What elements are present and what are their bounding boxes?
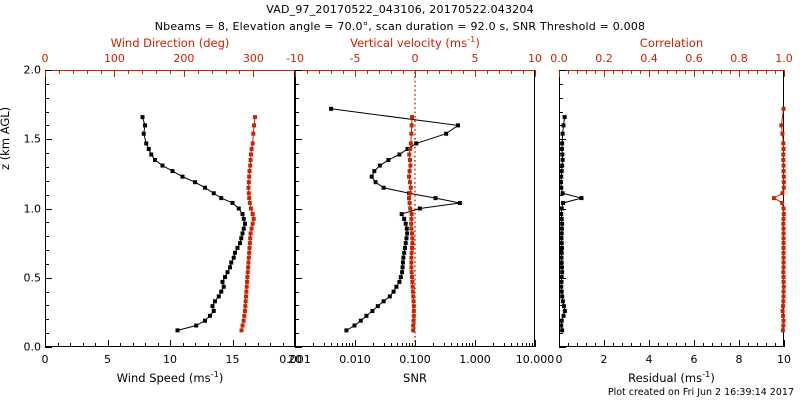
- data-point-marker: [149, 152, 153, 156]
- y-axis-tick: [45, 153, 49, 154]
- y-axis-tick: [45, 333, 49, 334]
- data-point-marker: [402, 217, 406, 221]
- y-axis-tick: [559, 278, 566, 279]
- data-point-marker: [144, 141, 148, 145]
- data-point-marker: [240, 328, 244, 332]
- data-point-marker: [409, 132, 413, 136]
- data-point-marker: [374, 180, 378, 184]
- data-point-marker: [401, 265, 405, 269]
- y-axis-tick: [45, 222, 49, 223]
- data-point-marker: [782, 107, 786, 111]
- y-axis-tick: [45, 195, 49, 196]
- data-point-marker: [219, 290, 223, 294]
- y-axis-tick: [45, 181, 49, 182]
- y-axis-tick: [295, 70, 302, 71]
- y-axis-tick: [559, 305, 563, 306]
- data-point-marker: [153, 158, 157, 162]
- data-point-marker: [247, 256, 251, 260]
- y-axis-tick: [295, 181, 299, 182]
- data-point-marker: [410, 280, 414, 284]
- data-point-marker: [779, 123, 783, 127]
- x-tick-label-top: 1.0: [775, 52, 793, 65]
- data-point-marker: [388, 294, 392, 298]
- data-point-marker: [409, 217, 413, 221]
- axis-tick: [535, 340, 536, 347]
- plot-area: [45, 70, 295, 347]
- data-point-marker: [410, 246, 414, 250]
- y-axis-tick: [295, 305, 299, 306]
- data-point-marker: [212, 309, 216, 313]
- y-tick-label: 1.0: [0, 202, 41, 215]
- data-point-marker: [781, 324, 785, 328]
- data-point-marker: [249, 207, 253, 211]
- y-axis-tick: [45, 209, 52, 210]
- x-tick-label-top: -10: [286, 52, 304, 65]
- data-point-marker: [561, 201, 565, 205]
- data-point-marker: [409, 265, 413, 269]
- data-point-marker: [782, 241, 786, 245]
- data-point-marker: [203, 319, 207, 323]
- panel-wind: [45, 70, 295, 347]
- data-point-marker: [242, 314, 246, 318]
- y-axis-tick: [45, 264, 49, 265]
- data-point-marker: [407, 196, 411, 200]
- data-point-marker: [781, 299, 785, 303]
- y-axis-tick: [45, 250, 49, 251]
- data-point-marker: [782, 275, 786, 279]
- y-axis-tick: [45, 292, 49, 293]
- data-point-marker: [247, 251, 251, 255]
- data-point-marker: [782, 207, 786, 211]
- plot-area: [559, 70, 784, 347]
- data-point-marker: [782, 251, 786, 255]
- data-point-marker: [412, 309, 416, 313]
- y-axis-tick: [295, 195, 299, 196]
- data-point-marker: [781, 141, 785, 145]
- x-tick-label-bottom: 0: [556, 353, 563, 366]
- data-point-marker: [241, 231, 245, 235]
- data-point-marker: [559, 324, 563, 328]
- data-point-marker: [782, 169, 786, 173]
- x-tick-label-bottom: 0.001: [279, 353, 311, 366]
- y-axis-tick: [559, 264, 563, 265]
- data-point-marker: [456, 123, 460, 127]
- data-point-marker: [412, 304, 416, 308]
- data-point-marker: [245, 275, 249, 279]
- data-point-marker: [382, 299, 386, 303]
- data-point-marker: [782, 164, 786, 168]
- data-point-marker: [244, 290, 248, 294]
- x-tick-label-bottom: 1.000: [459, 353, 491, 366]
- data-point-marker: [782, 180, 786, 184]
- data-point-marker: [410, 236, 414, 240]
- data-point-marker: [559, 186, 563, 190]
- data-point-marker: [781, 314, 785, 318]
- x-tick-label-top: 0.2: [595, 52, 613, 65]
- y-axis-tick: [295, 222, 299, 223]
- data-point-marker: [141, 115, 145, 119]
- data-point-marker: [560, 270, 564, 274]
- data-point-marker: [243, 304, 247, 308]
- series-wind-speed: [141, 115, 248, 332]
- x-tick-label-top: 100: [104, 52, 125, 65]
- data-point-marker: [242, 227, 246, 231]
- data-point-marker: [408, 164, 412, 168]
- data-point-marker: [245, 285, 249, 289]
- data-point-marker: [412, 319, 416, 323]
- data-point-marker: [444, 132, 448, 136]
- x-axis-title-bottom: SNR: [403, 371, 427, 385]
- y-axis-tick: [45, 167, 49, 168]
- data-point-marker: [560, 231, 564, 235]
- series-line: [143, 117, 246, 330]
- figure-subtitle: Nbeams = 8, Elevation angle = 70.0°, sca…: [0, 20, 800, 33]
- data-point-marker: [370, 309, 374, 313]
- plot-area: [295, 70, 535, 347]
- data-point-marker: [397, 280, 401, 284]
- x-axis-title-top: Vertical velocity (ms-1): [350, 36, 480, 50]
- data-point-marker: [409, 261, 413, 265]
- data-point-marker: [372, 169, 376, 173]
- data-point-marker: [408, 201, 412, 205]
- data-point-marker: [561, 132, 565, 136]
- y-axis-tick: [295, 167, 299, 168]
- y-tick-label: 0.5: [0, 271, 41, 284]
- data-point-marker: [403, 246, 407, 250]
- y-axis-tick: [559, 292, 563, 293]
- data-point-marker: [560, 169, 564, 173]
- y-axis-tick: [45, 347, 52, 348]
- panel-snr: [295, 70, 535, 347]
- data-point-marker: [418, 207, 422, 211]
- data-point-marker: [249, 231, 253, 235]
- data-point-marker: [408, 191, 412, 195]
- y-axis-tick: [295, 236, 299, 237]
- data-point-marker: [560, 217, 564, 221]
- axis-tick: [784, 70, 785, 77]
- y-axis-tick: [559, 125, 563, 126]
- data-point-marker: [781, 270, 785, 274]
- y-axis-tick: [559, 84, 563, 85]
- data-point-marker: [782, 265, 786, 269]
- data-point-marker: [247, 175, 251, 179]
- data-point-marker: [408, 207, 412, 211]
- data-point-marker: [249, 152, 253, 156]
- data-point-marker: [408, 169, 412, 173]
- x-tick-label-top: 0: [42, 52, 49, 65]
- data-point-marker: [213, 299, 217, 303]
- data-point-marker: [250, 227, 254, 231]
- data-point-marker: [402, 251, 406, 255]
- data-point-marker: [409, 141, 413, 145]
- data-point-marker: [252, 123, 256, 127]
- y-axis-tick: [45, 139, 52, 140]
- data-point-marker: [193, 180, 197, 184]
- x-axis-title-bottom: Wind Speed (ms-1): [117, 371, 224, 385]
- y-axis-tick: [295, 250, 299, 251]
- data-point-marker: [181, 175, 185, 179]
- data-point-marker: [386, 158, 390, 162]
- data-point-marker: [560, 251, 564, 255]
- y-axis-tick: [295, 125, 299, 126]
- data-point-marker: [253, 115, 257, 119]
- data-point-marker: [780, 191, 784, 195]
- data-point-marker: [411, 285, 415, 289]
- data-point-marker: [782, 285, 786, 289]
- data-point-marker: [176, 328, 180, 332]
- figure-canvas: VAD_97_20170522_043106, 20170522.043204 …: [0, 0, 800, 400]
- y-axis-tick: [45, 319, 49, 320]
- data-point-marker: [559, 285, 563, 289]
- data-point-marker: [248, 246, 252, 250]
- data-point-marker: [782, 290, 786, 294]
- data-point-marker: [400, 212, 404, 216]
- x-tick-label-bottom: 10: [777, 353, 791, 366]
- y-axis-tick: [559, 153, 563, 154]
- data-point-marker: [781, 309, 785, 313]
- data-point-marker: [226, 270, 230, 274]
- data-point-marker: [147, 147, 151, 151]
- data-point-marker: [781, 158, 785, 162]
- data-point-marker: [344, 328, 348, 332]
- data-point-marker: [243, 309, 247, 313]
- data-point-marker: [364, 314, 368, 318]
- y-axis-tick: [295, 264, 299, 265]
- series-residual: [559, 115, 583, 332]
- data-point-marker: [208, 314, 212, 318]
- data-point-marker: [409, 227, 413, 231]
- x-axis-title-bottom: Residual (ms-1): [628, 371, 715, 385]
- data-point-marker: [559, 212, 563, 216]
- y-tick-label: 2.0: [0, 64, 41, 77]
- x-tick-label-bottom: 0.010: [339, 353, 371, 366]
- axis-tick: [784, 340, 785, 347]
- x-tick-label-top: 5: [472, 52, 479, 65]
- data-point-marker: [414, 141, 418, 145]
- data-point-marker: [407, 152, 411, 156]
- data-point-marker: [782, 217, 786, 221]
- y-axis-tick: [559, 70, 566, 71]
- y-axis-tick: [559, 236, 563, 237]
- data-point-marker: [404, 222, 408, 226]
- data-point-marker: [245, 280, 249, 284]
- data-point-marker: [394, 285, 398, 289]
- data-point-marker: [359, 319, 363, 323]
- axis-tick: [535, 70, 536, 77]
- data-point-marker: [410, 231, 414, 235]
- data-point-marker: [376, 304, 380, 308]
- plot-timestamp: Plot created on Fri Jun 2 16:39:14 2017: [608, 387, 794, 398]
- y-axis-tick: [295, 278, 302, 279]
- data-point-marker: [410, 212, 414, 216]
- data-point-marker: [247, 180, 251, 184]
- data-point-marker: [780, 201, 784, 205]
- data-point-marker: [401, 256, 405, 260]
- x-tick-label-top: 0.8: [730, 52, 748, 65]
- data-point-marker: [223, 275, 227, 279]
- data-point-marker: [410, 270, 414, 274]
- data-point-marker: [781, 328, 785, 332]
- data-point-marker: [248, 164, 252, 168]
- y-axis-tick: [559, 347, 566, 348]
- y-axis-tick: [559, 333, 563, 334]
- y-axis-tick: [559, 139, 566, 140]
- data-point-marker: [248, 236, 252, 240]
- data-point-marker: [241, 324, 245, 328]
- data-point-marker: [411, 328, 415, 332]
- y-axis-tick: [559, 222, 563, 223]
- data-point-marker: [782, 256, 786, 260]
- data-point-marker: [560, 141, 564, 145]
- data-point-marker: [781, 222, 785, 226]
- x-tick-label-bottom: 5: [104, 353, 111, 366]
- y-axis-tick: [559, 209, 566, 210]
- y-axis-tick: [295, 112, 299, 113]
- data-point-marker: [408, 180, 412, 184]
- data-point-marker: [580, 196, 584, 200]
- data-point-marker: [229, 261, 233, 265]
- data-point-marker: [401, 261, 405, 265]
- data-point-marker: [252, 217, 256, 221]
- y-axis-tick: [559, 167, 563, 168]
- data-point-marker: [781, 152, 785, 156]
- x-tick-label-top: 300: [243, 52, 264, 65]
- y-axis-tick: [45, 278, 52, 279]
- panel-residual: [559, 70, 784, 347]
- data-point-marker: [397, 152, 401, 156]
- data-point-marker: [246, 265, 250, 269]
- data-point-marker: [329, 107, 333, 111]
- data-point-marker: [244, 299, 248, 303]
- data-point-marker: [412, 314, 416, 318]
- data-point-marker: [410, 123, 414, 127]
- data-point-marker: [171, 169, 175, 173]
- data-point-marker: [244, 294, 248, 298]
- data-point-marker: [242, 319, 246, 323]
- data-point-marker: [411, 294, 415, 298]
- data-point-marker: [243, 222, 247, 226]
- x-tick-label-bottom: 0: [42, 353, 49, 366]
- data-point-marker: [219, 196, 223, 200]
- data-point-marker: [782, 280, 786, 284]
- data-point-marker: [408, 147, 412, 151]
- y-axis-tick: [45, 84, 49, 85]
- y-axis-tick: [559, 250, 563, 251]
- data-point-marker: [781, 304, 785, 308]
- data-point-marker: [408, 158, 412, 162]
- data-point-marker: [411, 324, 415, 328]
- data-point-marker: [411, 290, 415, 294]
- data-point-marker: [143, 123, 147, 127]
- y-axis-tick: [295, 347, 302, 348]
- data-point-marker: [405, 231, 409, 235]
- series-wind-direction: [240, 115, 258, 332]
- y-axis-tick: [295, 209, 302, 210]
- data-point-marker: [241, 212, 245, 216]
- data-point-marker: [248, 241, 252, 245]
- data-point-marker: [194, 324, 198, 328]
- data-point-marker: [782, 212, 786, 216]
- data-point-marker: [782, 231, 786, 235]
- data-point-marker: [237, 207, 241, 211]
- data-point-marker: [233, 251, 237, 255]
- data-point-marker: [370, 175, 374, 179]
- x-tick-label-bottom: 2: [601, 353, 608, 366]
- x-axis-title-top: Wind Direction (deg): [111, 36, 230, 50]
- data-point-marker: [248, 201, 252, 205]
- data-point-marker: [410, 251, 414, 255]
- y-tick-label: 1.5: [0, 133, 41, 146]
- y-axis-tick: [45, 305, 49, 306]
- y-axis-tick: [295, 333, 299, 334]
- data-point-marker: [392, 290, 396, 294]
- data-point-marker: [560, 241, 564, 245]
- data-point-marker: [404, 241, 408, 245]
- data-point-marker: [239, 236, 243, 240]
- y-axis-tick: [45, 70, 52, 71]
- y-axis-tick: [45, 98, 49, 99]
- y-axis-tick: [559, 98, 563, 99]
- data-point-marker: [251, 132, 255, 136]
- data-point-marker: [232, 256, 236, 260]
- y-axis-tick: [559, 181, 563, 182]
- data-point-marker: [559, 256, 563, 260]
- x-tick-label-top: 0.4: [640, 52, 658, 65]
- data-point-marker: [250, 147, 254, 151]
- data-point-marker: [399, 275, 403, 279]
- data-point-marker: [400, 270, 404, 274]
- data-point-marker: [405, 227, 409, 231]
- data-point-marker: [251, 141, 255, 145]
- x-tick-label-top: 10: [528, 52, 542, 65]
- data-point-marker: [246, 270, 250, 274]
- y-axis-tick: [559, 319, 563, 320]
- x-axis-title-top: Correlation: [640, 36, 703, 50]
- data-point-marker: [404, 236, 408, 240]
- data-point-marker: [560, 265, 564, 269]
- x-tick-label-bottom: 4: [646, 353, 653, 366]
- data-point-marker: [434, 196, 438, 200]
- data-point-marker: [378, 164, 382, 168]
- figure-title: VAD_97_20170522_043106, 20170522.043204: [0, 3, 800, 16]
- y-axis-tick: [295, 292, 299, 293]
- data-point-marker: [161, 164, 165, 168]
- data-point-marker: [221, 280, 225, 284]
- x-tick-label-bottom: 0.100: [399, 353, 431, 366]
- y-axis-tick: [45, 125, 49, 126]
- data-point-marker: [242, 217, 246, 221]
- data-point-marker: [217, 294, 221, 298]
- x-tick-label-top: 0.0: [550, 52, 568, 65]
- y-axis-tick: [295, 84, 299, 85]
- data-point-marker: [782, 147, 786, 151]
- y-tick-label: 0.0: [0, 341, 41, 354]
- data-point-marker: [247, 191, 251, 195]
- data-point-marker: [409, 256, 413, 260]
- data-point-marker: [782, 175, 786, 179]
- x-tick-label-bottom: 8: [736, 353, 743, 366]
- data-point-marker: [212, 191, 216, 195]
- data-point-marker: [203, 186, 207, 190]
- data-point-marker: [563, 309, 567, 313]
- data-point-marker: [563, 115, 567, 119]
- data-point-marker: [222, 285, 226, 289]
- x-tick-label-bottom: 10.000: [516, 353, 555, 366]
- data-point-marker: [236, 246, 240, 250]
- y-axis-tick: [45, 112, 49, 113]
- data-point-marker: [560, 328, 564, 332]
- data-point-marker: [410, 115, 414, 119]
